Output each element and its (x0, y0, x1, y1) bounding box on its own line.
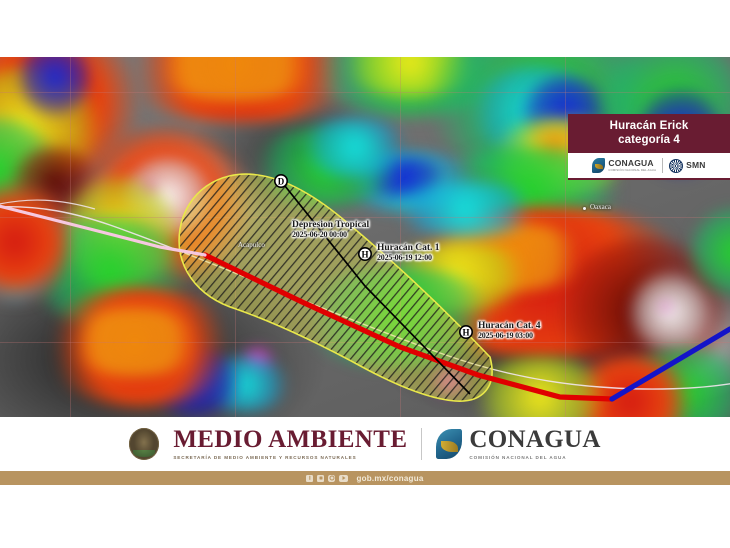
agency-title: CONAGUA (469, 427, 600, 452)
city-dot-oaxaca (583, 207, 586, 210)
agency-block: CONAGUA COMISIÓN NACIONAL DEL AGUA (436, 427, 600, 461)
latitude-gridline (0, 92, 730, 93)
satellite-map[interactable]: D H H Depresion Tropical 2025-06-20 00:0… (0, 57, 730, 417)
institutional-banner: MEDIO AMBIENTE SECRETARÍA DE MEDIO AMBIE… (0, 417, 730, 471)
city-label-acapulco: Acapulco (238, 241, 265, 249)
track-label-depresion-tropical: Depresion Tropical 2025-06-20 00:00 (292, 220, 369, 239)
seal-ring (129, 428, 159, 460)
ministry-subtitle: SECRETARÍA DE MEDIO AMBIENTE Y RECURSOS … (173, 456, 407, 461)
conagua-logo-icon (592, 158, 605, 173)
youtube-icon[interactable] (339, 475, 348, 482)
convection-blob (300, 117, 410, 177)
longitude-gridline (400, 57, 401, 417)
agency-subtitle: COMISIÓN NACIONAL DEL AGUA (469, 456, 600, 461)
hurricane-forecast-graphic: D H H Depresion Tropical 2025-06-20 00:0… (0, 0, 730, 548)
conagua-logo-group: CONAGUA COMISIÓN NACIONAL DEL AGUA (592, 158, 656, 173)
convection-blob (430, 367, 470, 395)
track-label-huracan-cat-4: Huracán Cat. 4 2025-06-19 03:00 (478, 321, 541, 340)
longitude-gridline (565, 57, 566, 417)
banner-divider (421, 428, 422, 460)
track-label-timestamp: 2025-06-19 12:00 (377, 253, 440, 262)
footer-url[interactable]: gob.mx/conagua (356, 474, 423, 483)
longitude-gridline (235, 57, 236, 417)
track-label-timestamp: 2025-06-19 03:00 (478, 331, 541, 340)
latitude-gridline (0, 217, 730, 218)
conagua-logo-text: CONAGUA COMISIÓN NACIONAL DEL AGUA (608, 159, 656, 171)
ministry-block: MEDIO AMBIENTE SECRETARÍA DE MEDIO AMBIE… (173, 427, 407, 461)
track-label-timestamp: 2025-06-20 00:00 (292, 230, 369, 239)
facebook-icon[interactable] (306, 475, 313, 482)
instagram-icon[interactable] (328, 475, 335, 482)
smn-logo-name: SMN (686, 161, 706, 170)
ministry-title: MEDIO AMBIENTE (173, 427, 407, 452)
badge-logo-strip: CONAGUA COMISIÓN NACIONAL DEL AGUA SMN (568, 153, 730, 180)
conagua-logo-name: CONAGUA (608, 159, 656, 168)
track-label-huracan-cat-1: Huracán Cat. 1 2025-06-19 12:00 (377, 243, 440, 262)
eye-feature (630, 272, 710, 352)
track-label-name: Depresion Tropical (292, 220, 369, 230)
track-label-name: Huracán Cat. 1 (377, 243, 440, 253)
hurricane-title-badge: Huracán Erick categoría 4 CONAGUA COMISI… (568, 114, 730, 180)
mexican-coat-of-arms-icon (129, 428, 159, 460)
track-label-name: Huracán Cat. 4 (478, 321, 541, 331)
footer-social-strip: gob.mx/conagua (0, 471, 730, 485)
convection-blob (660, 302, 672, 312)
agency-text: CONAGUA COMISIÓN NACIONAL DEL AGUA (469, 427, 600, 461)
convection-blob (390, 182, 540, 237)
badge-title-line2: categoría 4 (572, 133, 726, 147)
twitter-icon[interactable] (317, 475, 324, 482)
conagua-logo-subtitle: COMISIÓN NACIONAL DEL AGUA (608, 169, 656, 172)
smn-logo-group: SMN (669, 159, 706, 173)
longitude-gridline (70, 57, 71, 417)
conagua-logo-icon-large (436, 429, 462, 459)
city-label-oaxaca: Oaxaca (590, 203, 611, 211)
logo-divider (662, 158, 663, 173)
smn-logo-text: SMN (686, 161, 706, 171)
latitude-gridline (0, 342, 730, 343)
smn-logo-icon (669, 159, 683, 173)
badge-title-line1: Huracán Erick (572, 119, 726, 133)
badge-title: Huracán Erick categoría 4 (568, 114, 730, 153)
